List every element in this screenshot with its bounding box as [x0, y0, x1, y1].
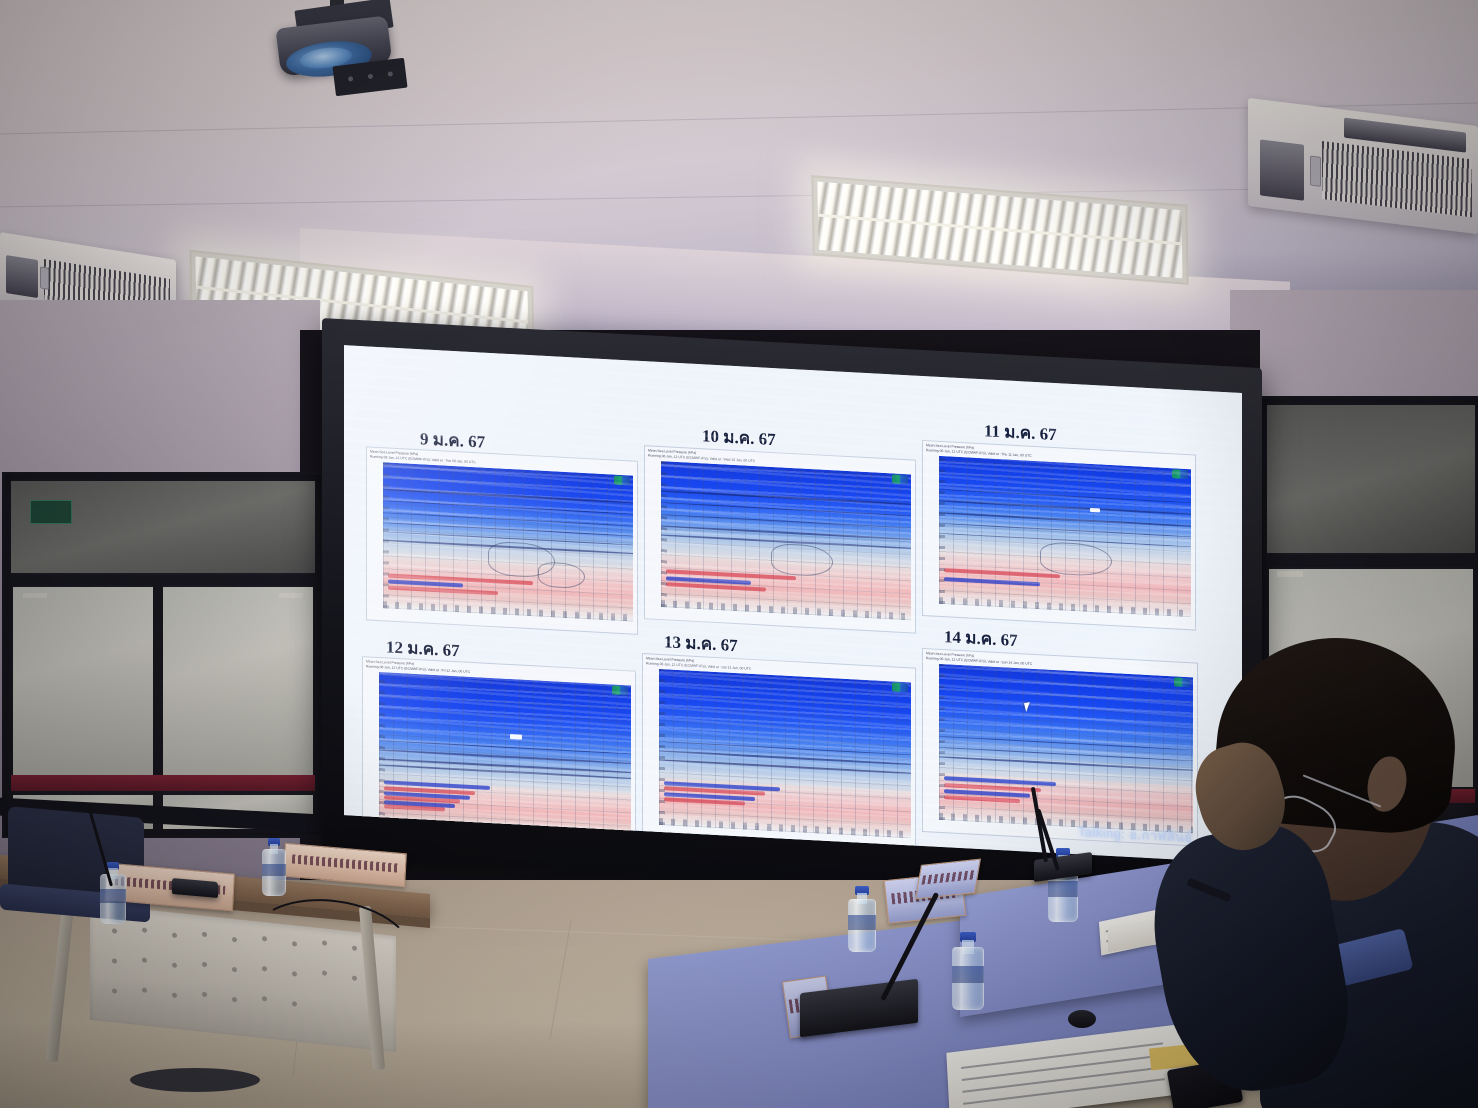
forecast-panel-6[interactable]: Mean Sea Level Pressure (hPa) Running 06…	[922, 648, 1198, 847]
forecast-panel-3[interactable]: Mean Sea Level Pressure (hPa) Running 06…	[922, 440, 1196, 631]
pressure-map-1	[383, 462, 633, 621]
water-bottle-1[interactable]	[100, 862, 126, 924]
display-screen[interactable]: 9 ม.ค. 67 Mean Sea Level Pressure (hPa) …	[344, 345, 1242, 863]
forecast-panel-1[interactable]: Mean Sea Level Pressure (hPa) Running 06…	[366, 446, 638, 634]
exit-sign	[30, 500, 72, 524]
door-handle[interactable]	[279, 593, 303, 598]
forecast-panel-2[interactable]: Mean Sea Level Pressure (hPa) Running 06…	[644, 445, 916, 633]
door-handle[interactable]	[23, 593, 47, 598]
presentation-slide: 9 ม.ค. 67 Mean Sea Level Pressure (hPa) …	[344, 345, 1242, 863]
mic-capsule-icon	[1068, 1010, 1096, 1028]
water-bottle-3[interactable]	[848, 886, 876, 952]
door-panel-glass-right	[163, 587, 313, 777]
ecmwf-logo-icon-5	[892, 682, 908, 692]
chair-base	[130, 1068, 260, 1092]
ecmwf-logo-icon-1	[614, 476, 630, 486]
wall-display[interactable]: 9 ม.ค. 67 Mean Sea Level Pressure (hPa) …	[322, 318, 1262, 908]
ecmwf-logo-icon-3	[1172, 469, 1188, 479]
forecast-panel-5[interactable]: Mean Sea Level Pressure (hPa) Running 06…	[642, 653, 916, 852]
meeting-room-scene: 9 ม.ค. 67 Mean Sea Level Pressure (hPa) …	[0, 0, 1478, 1108]
door-accent-band	[11, 775, 315, 791]
door-transom-glass	[11, 481, 315, 573]
pressure-map-2	[661, 461, 911, 620]
pressure-map-4	[379, 672, 631, 839]
door-right-transom-glass	[1267, 405, 1475, 553]
pressure-map-6	[939, 664, 1193, 834]
nameplate-4	[915, 859, 981, 900]
water-bottle-2[interactable]	[262, 838, 286, 896]
pressure-map-3	[939, 456, 1191, 617]
pressure-map-5	[659, 669, 911, 838]
ecmwf-logo-icon-2	[892, 474, 908, 484]
ecmwf-logo-icon-6	[1174, 677, 1190, 687]
water-bottle-4[interactable]	[952, 932, 984, 1010]
door-left[interactable]	[2, 472, 324, 838]
door-right-handle[interactable]	[1277, 571, 1303, 577]
ecmwf-logo-icon-4	[612, 685, 628, 695]
door-panel-glass-left	[13, 587, 153, 777]
